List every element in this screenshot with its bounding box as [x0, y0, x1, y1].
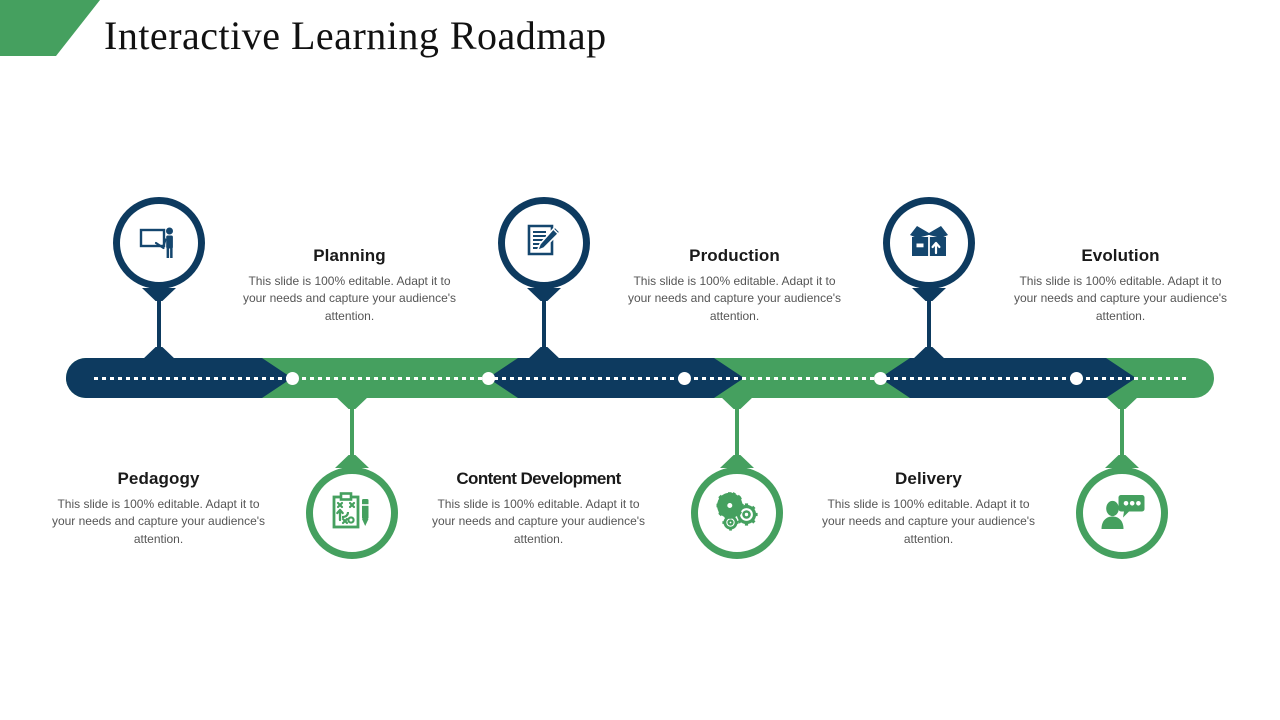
step-description-production: This slide is 100% editable. Adapt it to… — [627, 273, 842, 325]
document-pencil-icon — [522, 221, 566, 265]
step-label-production: Production — [627, 246, 842, 266]
icon-circle-delivery[interactable] — [883, 197, 975, 289]
icon-circle-content-development[interactable] — [498, 197, 590, 289]
step-label-planning: Planning — [242, 246, 457, 266]
timeline-node-4[interactable] — [874, 372, 887, 385]
connector-pin-pedagogy — [142, 288, 176, 360]
timeline-node-2[interactable] — [482, 372, 495, 385]
connector-pin-content-development — [527, 288, 561, 360]
step-description-pedagogy: This slide is 100% editable. Adapt it to… — [51, 496, 266, 548]
roadmap-timeline-bar — [66, 358, 1214, 398]
connector-pin-production — [720, 396, 754, 468]
person-speech-bubble-icon — [1099, 493, 1145, 533]
connector-pin-delivery — [912, 288, 946, 360]
step-label-evolution: Evolution — [1013, 246, 1228, 266]
icon-circle-pedagogy[interactable] — [113, 197, 205, 289]
step-text-production: Production This slide is 100% editable. … — [627, 246, 842, 325]
timeline-node-3[interactable] — [678, 372, 691, 385]
pin-flare-bottom — [720, 455, 754, 468]
step-label-delivery: Delivery — [821, 469, 1036, 489]
presenter-whiteboard-icon — [136, 220, 182, 266]
step-description-planning: This slide is 100% editable. Adapt it to… — [242, 273, 457, 325]
step-description-delivery: This slide is 100% editable. Adapt it to… — [821, 496, 1036, 548]
icon-circle-evolution[interactable] — [1076, 467, 1168, 559]
step-description-content-development: This slide is 100% editable. Adapt it to… — [431, 496, 646, 548]
title-accent-banner — [0, 0, 100, 56]
step-text-planning: Planning This slide is 100% editable. Ad… — [242, 246, 457, 325]
page-title: Interactive Learning Roadmap — [104, 12, 607, 59]
pin-flare-bottom — [335, 455, 369, 468]
pin-flare-bottom — [1105, 455, 1139, 468]
slide-canvas: Interactive Learning Roadmap — [0, 0, 1280, 720]
step-text-delivery: Delivery This slide is 100% editable. Ad… — [821, 469, 1036, 548]
step-label-content-development: Content Development — [431, 469, 646, 489]
icon-circle-production[interactable] — [691, 467, 783, 559]
step-text-content-development: Content Development This slide is 100% e… — [431, 469, 646, 548]
step-text-pedagogy: Pedagogy This slide is 100% editable. Ad… — [51, 469, 266, 548]
timeline-dashed-line — [94, 377, 1186, 380]
step-label-pedagogy: Pedagogy — [51, 469, 266, 489]
timeline-node-1[interactable] — [286, 372, 299, 385]
timeline-node-5[interactable] — [1070, 372, 1083, 385]
gears-icon — [714, 491, 760, 535]
clipboard-strategy-pen-icon — [330, 491, 374, 535]
step-description-evolution: This slide is 100% editable. Adapt it to… — [1013, 273, 1228, 325]
step-text-evolution: Evolution This slide is 100% editable. A… — [1013, 246, 1228, 325]
connector-pin-evolution — [1105, 396, 1139, 468]
open-box-arrow-icon — [906, 223, 952, 263]
icon-circle-planning[interactable] — [306, 467, 398, 559]
connector-pin-planning — [335, 396, 369, 468]
